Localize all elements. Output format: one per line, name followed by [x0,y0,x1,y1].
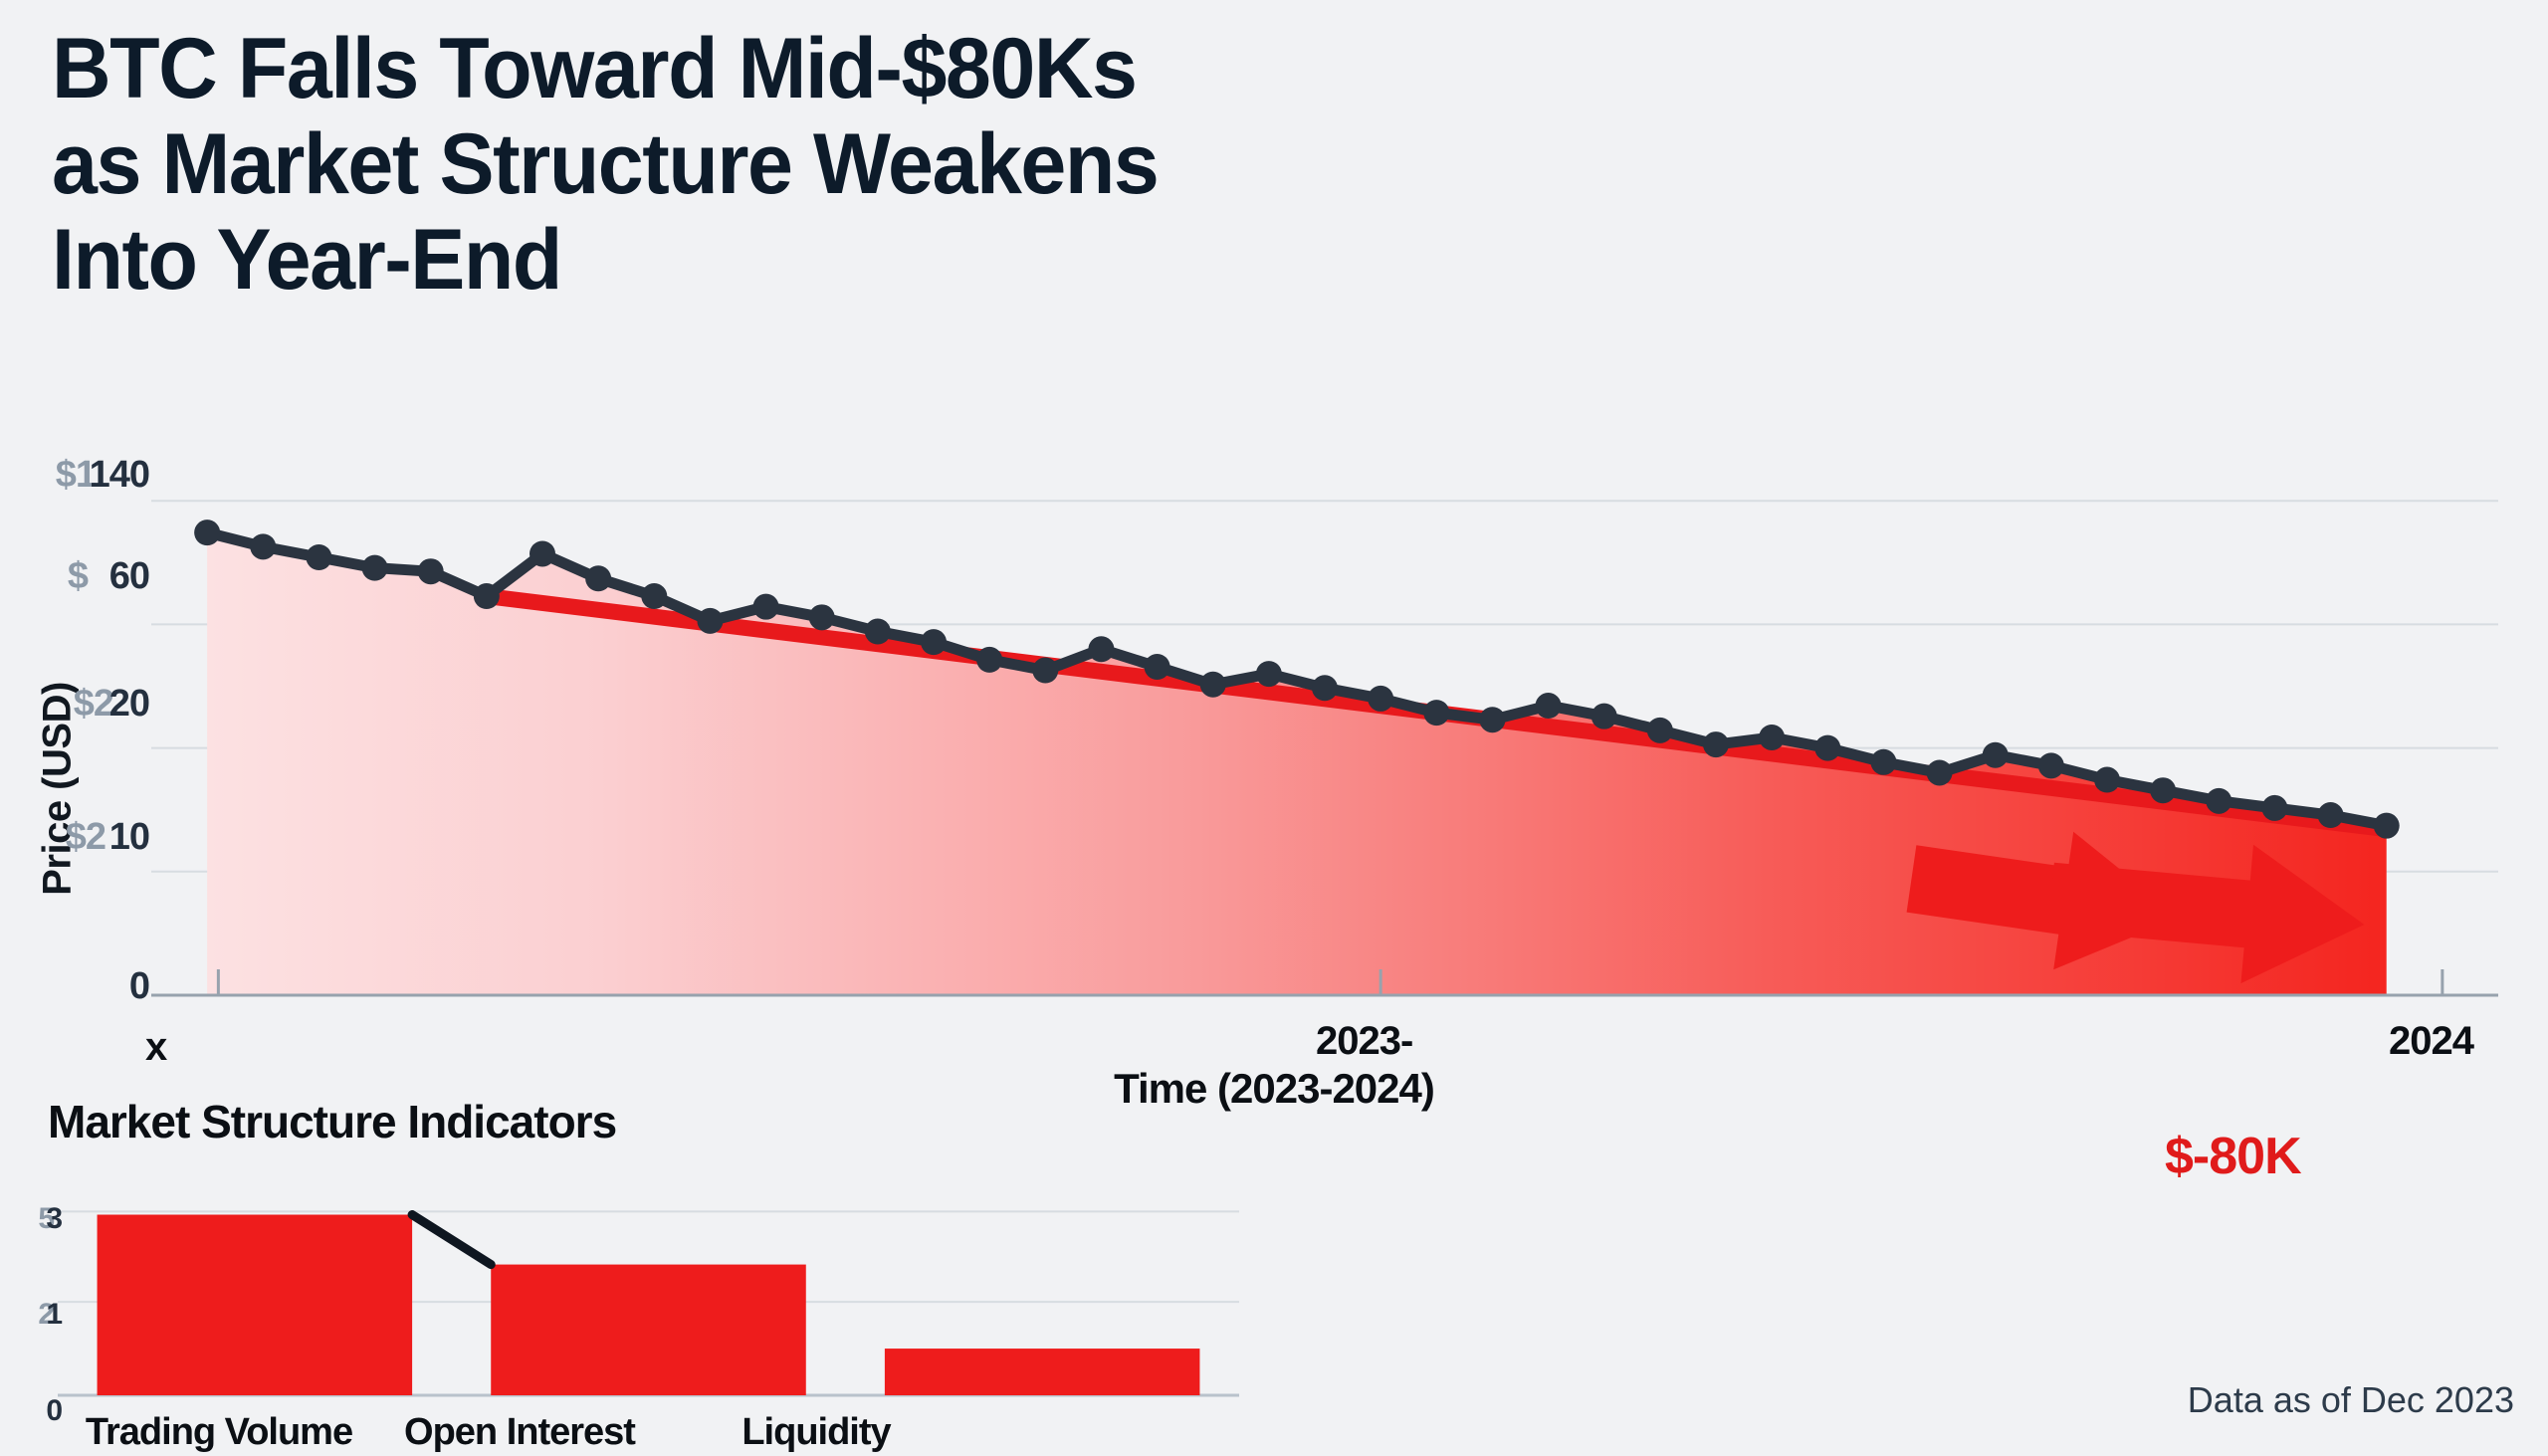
y-tick-60-ghost: $ [68,557,88,595]
x-tick-x: x [145,1025,166,1070]
y-tick-20-value: 20 [109,685,149,723]
y-tick-140: $1 140 [0,456,149,496]
data-as-of-note: Data as of Dec 2023 [2188,1379,2514,1421]
bar-y-tick-mid: 1 [2,1300,62,1330]
x-tick-2023: 2023- [1316,1019,1412,1064]
y-tick-60: $ 60 [0,557,149,597]
y-tick-10: $2 10 [0,818,149,858]
bar-plot-svg [0,1095,1294,1456]
y-tick-0-value: 0 [129,967,149,1005]
y-tick-60-value: 60 [109,557,149,595]
price-plot-svg [0,438,2548,1075]
y-tick-10-ghost: $2 [66,818,106,856]
x-tick-2024: 2024 [2389,1019,2473,1064]
bar-connector-line [412,1215,491,1265]
bar-chart-title: Market Structure Indicators [48,1095,616,1148]
title-line-1: BTC Falls Toward Mid-$80Ks [52,26,1734,111]
title-line-2: as Market Structure Weakens [52,121,1734,207]
bar-y-tick-zero: 0 [2,1396,62,1426]
title-line-3: Into Year-End [52,217,1734,303]
bar-y-tick-top: 3 [2,1204,62,1234]
bars [98,1215,1200,1395]
infographic-root: BTC Falls Toward Mid-$80Ks as Market Str… [0,0,2548,1456]
bar-category-liquidity: Liquidity [667,1411,965,1454]
y-tick-20-ghost: $2 [74,685,113,723]
bar-category-open-interest: Open Interest [370,1411,669,1454]
market-structure-chart: Market Structure Indicators 5 3 2 1 0 Tr… [0,1095,2548,1456]
page-title: BTC Falls Toward Mid-$80Ks as Market Str… [52,26,1734,312]
y-tick-140-value: 140 [90,456,149,494]
y-tick-20: $2 20 [0,685,149,725]
y-tick-10-value: 10 [109,818,149,856]
y-tick-0: 0 [0,967,149,1007]
bar-category-trading-volume: Trading Volume [70,1411,368,1454]
price-chart: Price (USD) $1 140 $ 60 $2 20 $2 10 0 [0,438,2548,1075]
